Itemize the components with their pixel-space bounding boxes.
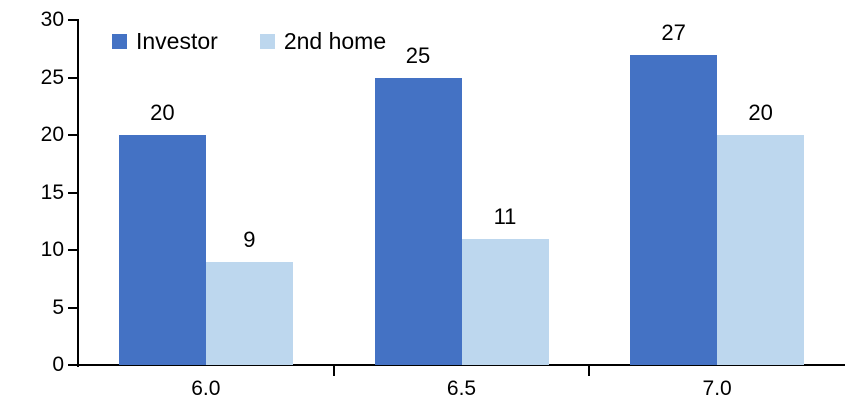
- bar-value-label: 25: [378, 45, 458, 67]
- y-axis-tick: [68, 134, 78, 136]
- legend-item-label: 2nd home: [284, 30, 386, 53]
- chart-legend: Investor2nd home: [112, 30, 386, 53]
- x-axis-separator-tick: [333, 366, 335, 376]
- bar-2nd-home-7.0[interactable]: [717, 135, 804, 365]
- x-axis-separator-tick: [588, 366, 590, 376]
- y-axis-tick-label-text: 5: [18, 297, 64, 318]
- bar-2nd-home-6.5[interactable]: [462, 239, 549, 366]
- bar-investor-7.0[interactable]: [630, 55, 717, 366]
- y-axis-tick: [68, 19, 78, 21]
- y-axis-tick: [68, 307, 78, 309]
- legend-item-investor[interactable]: Investor: [112, 30, 218, 53]
- bar-investor-6.0[interactable]: [119, 135, 206, 365]
- bar-2nd-home-6.0[interactable]: [206, 262, 293, 366]
- x-axis-category-label: 6.0: [146, 378, 266, 399]
- legend-item-2nd-home[interactable]: 2nd home: [260, 30, 386, 53]
- x-axis-category-label: 7.0: [657, 378, 777, 399]
- y-axis-tick: [68, 192, 78, 194]
- y-axis-tick: [68, 77, 78, 79]
- bar-investor-6.5[interactable]: [375, 78, 462, 366]
- square-swatch-icon: [112, 34, 127, 49]
- y-axis-tick-label-text: 15: [18, 182, 64, 203]
- bar-value-label: 11: [465, 206, 545, 228]
- plot-area: 20925112720: [78, 20, 845, 365]
- x-axis-category-label: 6.5: [402, 378, 522, 399]
- square-swatch-icon: [260, 34, 275, 49]
- y-axis-tick-label-text: 10: [18, 239, 64, 260]
- bar-chart: 051015202530 6.06.57.0 20925112720 Inves…: [0, 0, 852, 410]
- bar-value-label: 9: [209, 229, 289, 251]
- bar-value-label: 20: [721, 102, 801, 124]
- y-axis-tick-label-text: 0: [18, 354, 64, 375]
- y-axis-tick-label-text: 20: [18, 124, 64, 145]
- y-axis-tick-label-text: 30: [18, 9, 64, 30]
- y-axis-tick-label-text: 25: [18, 67, 64, 88]
- legend-item-label: Investor: [136, 30, 218, 53]
- y-axis-tick: [68, 249, 78, 251]
- bar-value-label: 27: [634, 22, 714, 44]
- y-axis-tick: [68, 364, 78, 366]
- bar-value-label: 20: [122, 102, 202, 124]
